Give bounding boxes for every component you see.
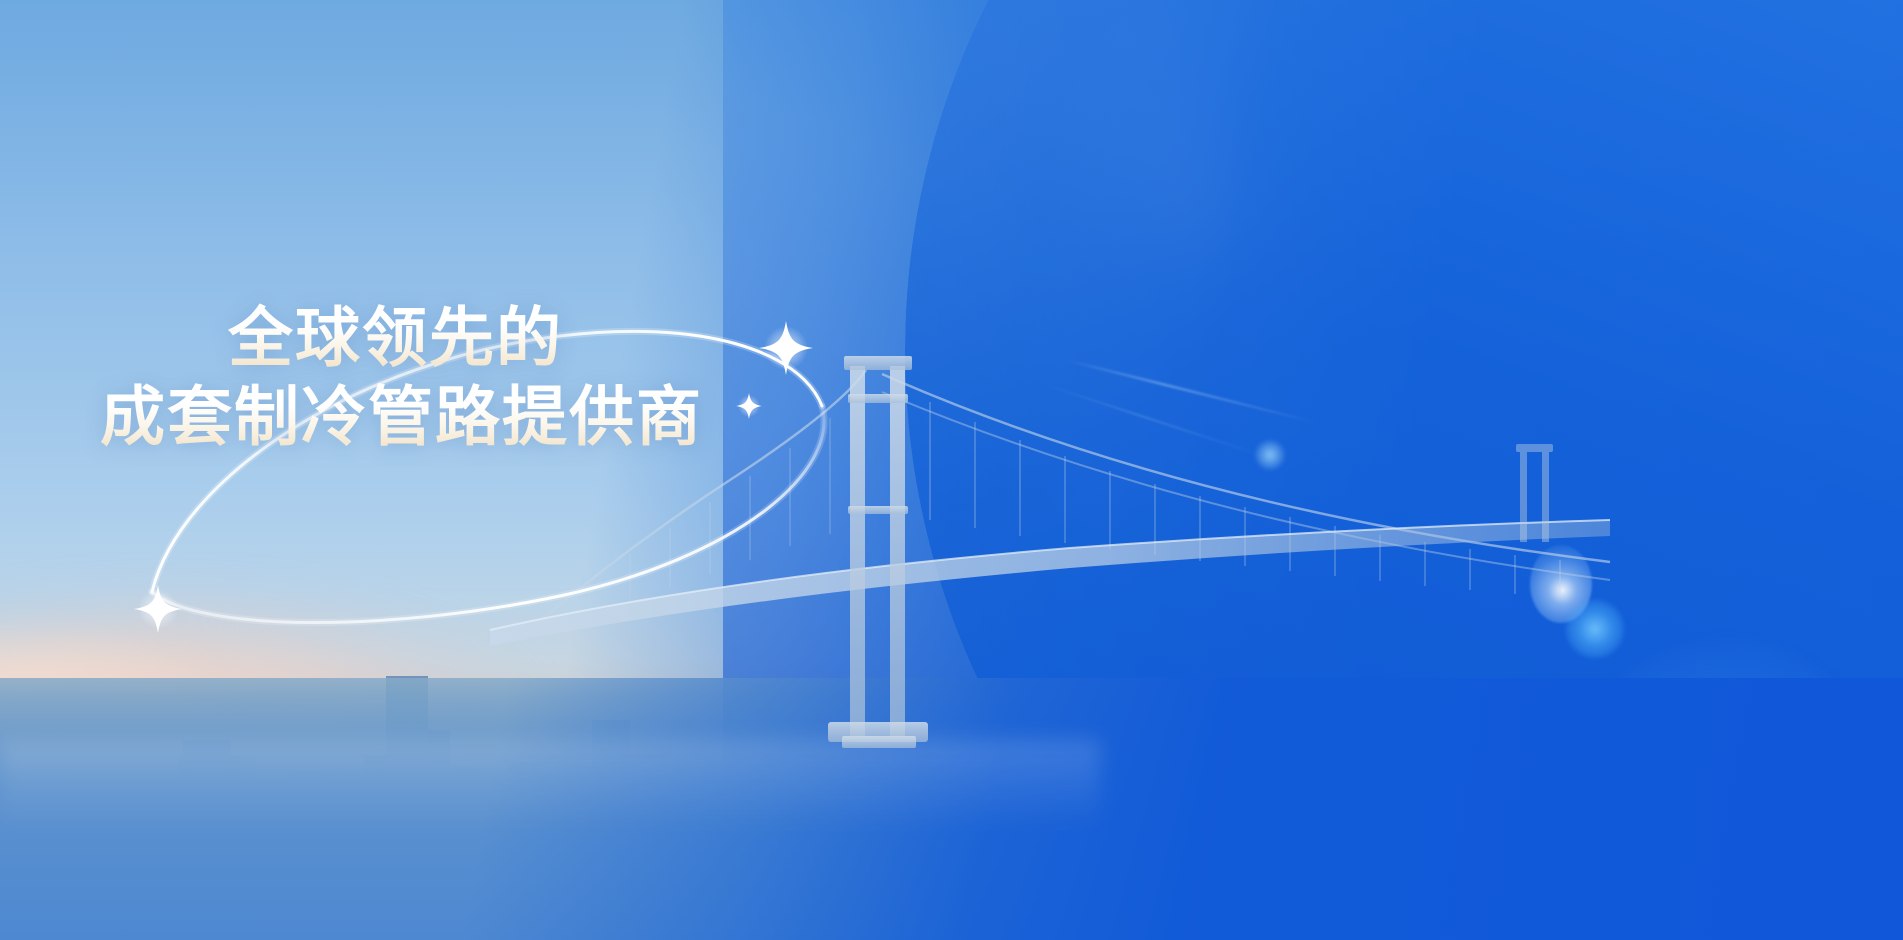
hero-banner: 全球领先的 成套制冷管路提供商 xyxy=(0,0,1903,940)
headline-line-1: 全球领先的 xyxy=(228,300,860,375)
hero-headline: 全球领先的 成套制冷管路提供商 xyxy=(100,300,860,455)
headline-line-2: 成套制冷管路提供商 xyxy=(100,379,860,454)
